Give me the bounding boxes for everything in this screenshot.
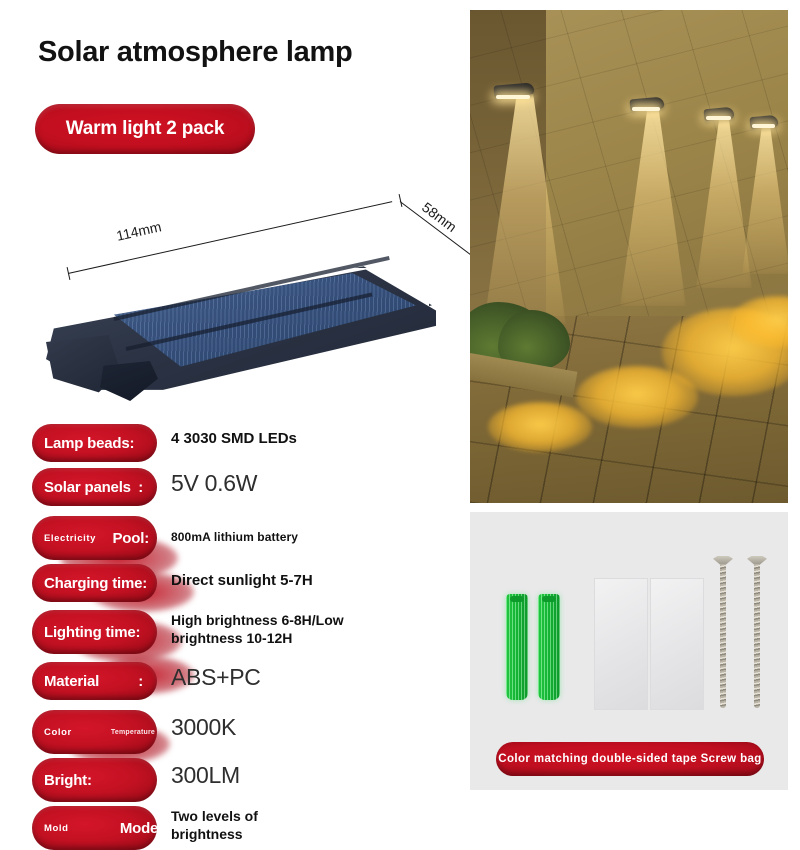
floor-light-pool	[488, 402, 592, 452]
spec-label-colon: :	[138, 673, 143, 690]
lifestyle-photo	[470, 10, 788, 503]
variant-badge-label: Warm light 2 pack	[66, 118, 225, 140]
spec-row: Bright: 300LM	[32, 758, 452, 802]
spec-value-charging-time: Direct sunlight 5-7H	[157, 564, 313, 589]
product-photo: 114mm 58mm	[28, 195, 448, 410]
spec-label-text-tertiary: Temperature	[111, 729, 155, 736]
spec-label-text-secondary: Mold	[32, 823, 69, 834]
spec-value-mode: Two levels of brightness	[157, 806, 258, 843]
spec-row: Lamp beads: 4 3030 SMD LEDs	[32, 424, 452, 462]
spec-value-material: ABS+PC	[157, 662, 261, 691]
spec-row: Color Temperature 3000K	[32, 710, 452, 754]
spec-label-solar-panels: Solar panels :	[32, 468, 157, 506]
spec-label-text: Lighting time:	[32, 624, 140, 641]
spec-label-text-secondary: Electricity	[32, 533, 96, 544]
dimension-label-length: 114mm	[115, 218, 163, 244]
lamp-glow	[706, 116, 731, 120]
spec-value-lamp-beads: 4 3030 SMD LEDs	[157, 424, 297, 447]
page-title: Solar atmosphere lamp	[38, 36, 352, 69]
spec-value-battery: 800mA lithium battery	[157, 516, 298, 544]
lamp-glow	[752, 124, 775, 128]
lamp-glow	[632, 107, 660, 111]
spec-value-color-temperature: 3000K	[157, 710, 236, 741]
spec-row: Mold Mode: Two levels of brightness	[32, 806, 452, 850]
screw-shaft	[720, 564, 726, 708]
spec-value-bright: 300LM	[157, 758, 240, 789]
spec-row: Charging time: Direct sunlight 5-7H	[32, 564, 452, 602]
spec-label-text: Material	[32, 673, 99, 690]
spec-label-text: Solar panels	[32, 479, 131, 496]
wall-anchor	[506, 594, 528, 700]
accessories-caption-badge: Color matching double-sided tape Screw b…	[496, 742, 764, 776]
spec-label-charging-time: Charging time:	[32, 564, 157, 602]
spec-label-material: Material :	[32, 662, 157, 700]
screw	[718, 556, 728, 708]
screw-shaft	[754, 564, 760, 708]
spec-label-mold-mode: Mold Mode:	[32, 806, 157, 850]
spec-value-solar-panels: 5V 0.6W	[157, 468, 257, 497]
floor-light-pool	[576, 366, 698, 428]
lamp-mounting-bracket	[100, 361, 158, 401]
spec-row: Lighting time: High brightness 6-8H/Low …	[32, 610, 452, 654]
double-sided-tape	[594, 578, 648, 710]
accessories-photo: Color matching double-sided tape Screw b…	[470, 512, 788, 790]
spec-label-text: Lamp beads:	[32, 435, 134, 452]
spec-label-colon: :	[138, 479, 143, 496]
double-sided-tape	[650, 578, 704, 710]
spec-value-lighting-time: High brightness 6-8H/Low brightness 10-1…	[157, 610, 344, 647]
spec-label-lighting-time: Lighting time:	[32, 610, 157, 654]
spec-label-lamp-beads: Lamp beads:	[32, 424, 157, 462]
lamp-glow	[496, 95, 530, 99]
spec-label-text: Pool:	[113, 530, 150, 547]
spec-label-text: Charging time:	[32, 575, 147, 592]
spec-label-text: Mode:	[120, 820, 157, 837]
spec-row: Material : ABS+PC	[32, 662, 452, 700]
spec-label-text: Bright:	[32, 772, 92, 789]
wall-anchor	[538, 594, 560, 700]
variant-badge[interactable]: Warm light 2 pack	[35, 104, 255, 154]
spec-label-color-temperature: Color Temperature	[32, 710, 157, 754]
specification-list: Lamp beads: 4 3030 SMD LEDs Solar panels…	[32, 424, 452, 794]
spec-row: Solar panels : 5V 0.6W	[32, 468, 452, 506]
spec-label-electricity-pool: Electricity Pool:	[32, 516, 157, 560]
screw	[752, 556, 762, 708]
spec-row: Electricity Pool: 800mA lithium battery	[32, 516, 452, 560]
accessories-caption-text: Color matching double-sided tape Screw b…	[498, 753, 761, 765]
spec-label-text-secondary: Color	[32, 727, 72, 738]
spec-label-bright: Bright:	[32, 758, 157, 802]
